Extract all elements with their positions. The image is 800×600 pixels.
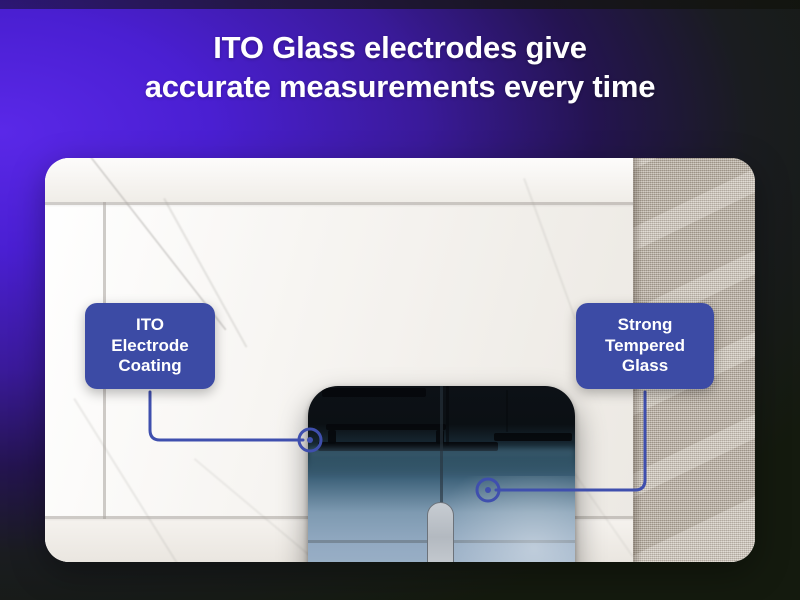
headline-line-2: accurate measurements every time <box>0 67 800 106</box>
callout-strong-tempered-glass[interactable]: Strong Tempered Glass <box>576 303 714 389</box>
top-edge-band <box>0 0 800 9</box>
glass-reflection <box>446 386 449 446</box>
callout-left-line-2: Electrode <box>99 336 201 357</box>
glass-reflection <box>506 390 508 432</box>
glass-reflection <box>322 388 426 397</box>
tile-grout-line <box>45 202 665 205</box>
callout-left-line-1: ITO <box>99 315 201 336</box>
callout-right-line-1: Strong <box>590 315 700 336</box>
headline-line-1: ITO Glass electrodes give <box>213 30 587 65</box>
callout-right-line-2: Tempered <box>590 336 700 357</box>
wyze-smart-scale: WYZE <box>308 386 575 562</box>
callout-left-line-3: Coating <box>99 356 201 377</box>
callout-right-line-3: Glass <box>590 356 700 377</box>
callout-ito-electrode-coating[interactable]: ITO Electrode Coating <box>85 303 215 389</box>
page-title: ITO Glass electrodes give accurate measu… <box>0 28 800 106</box>
glass-reflection <box>326 424 446 430</box>
center-sensor-element <box>427 502 454 562</box>
promo-graphic: ITO Glass electrodes give accurate measu… <box>0 0 800 600</box>
floor-tile-top <box>45 158 665 202</box>
glass-reflection <box>494 433 572 441</box>
